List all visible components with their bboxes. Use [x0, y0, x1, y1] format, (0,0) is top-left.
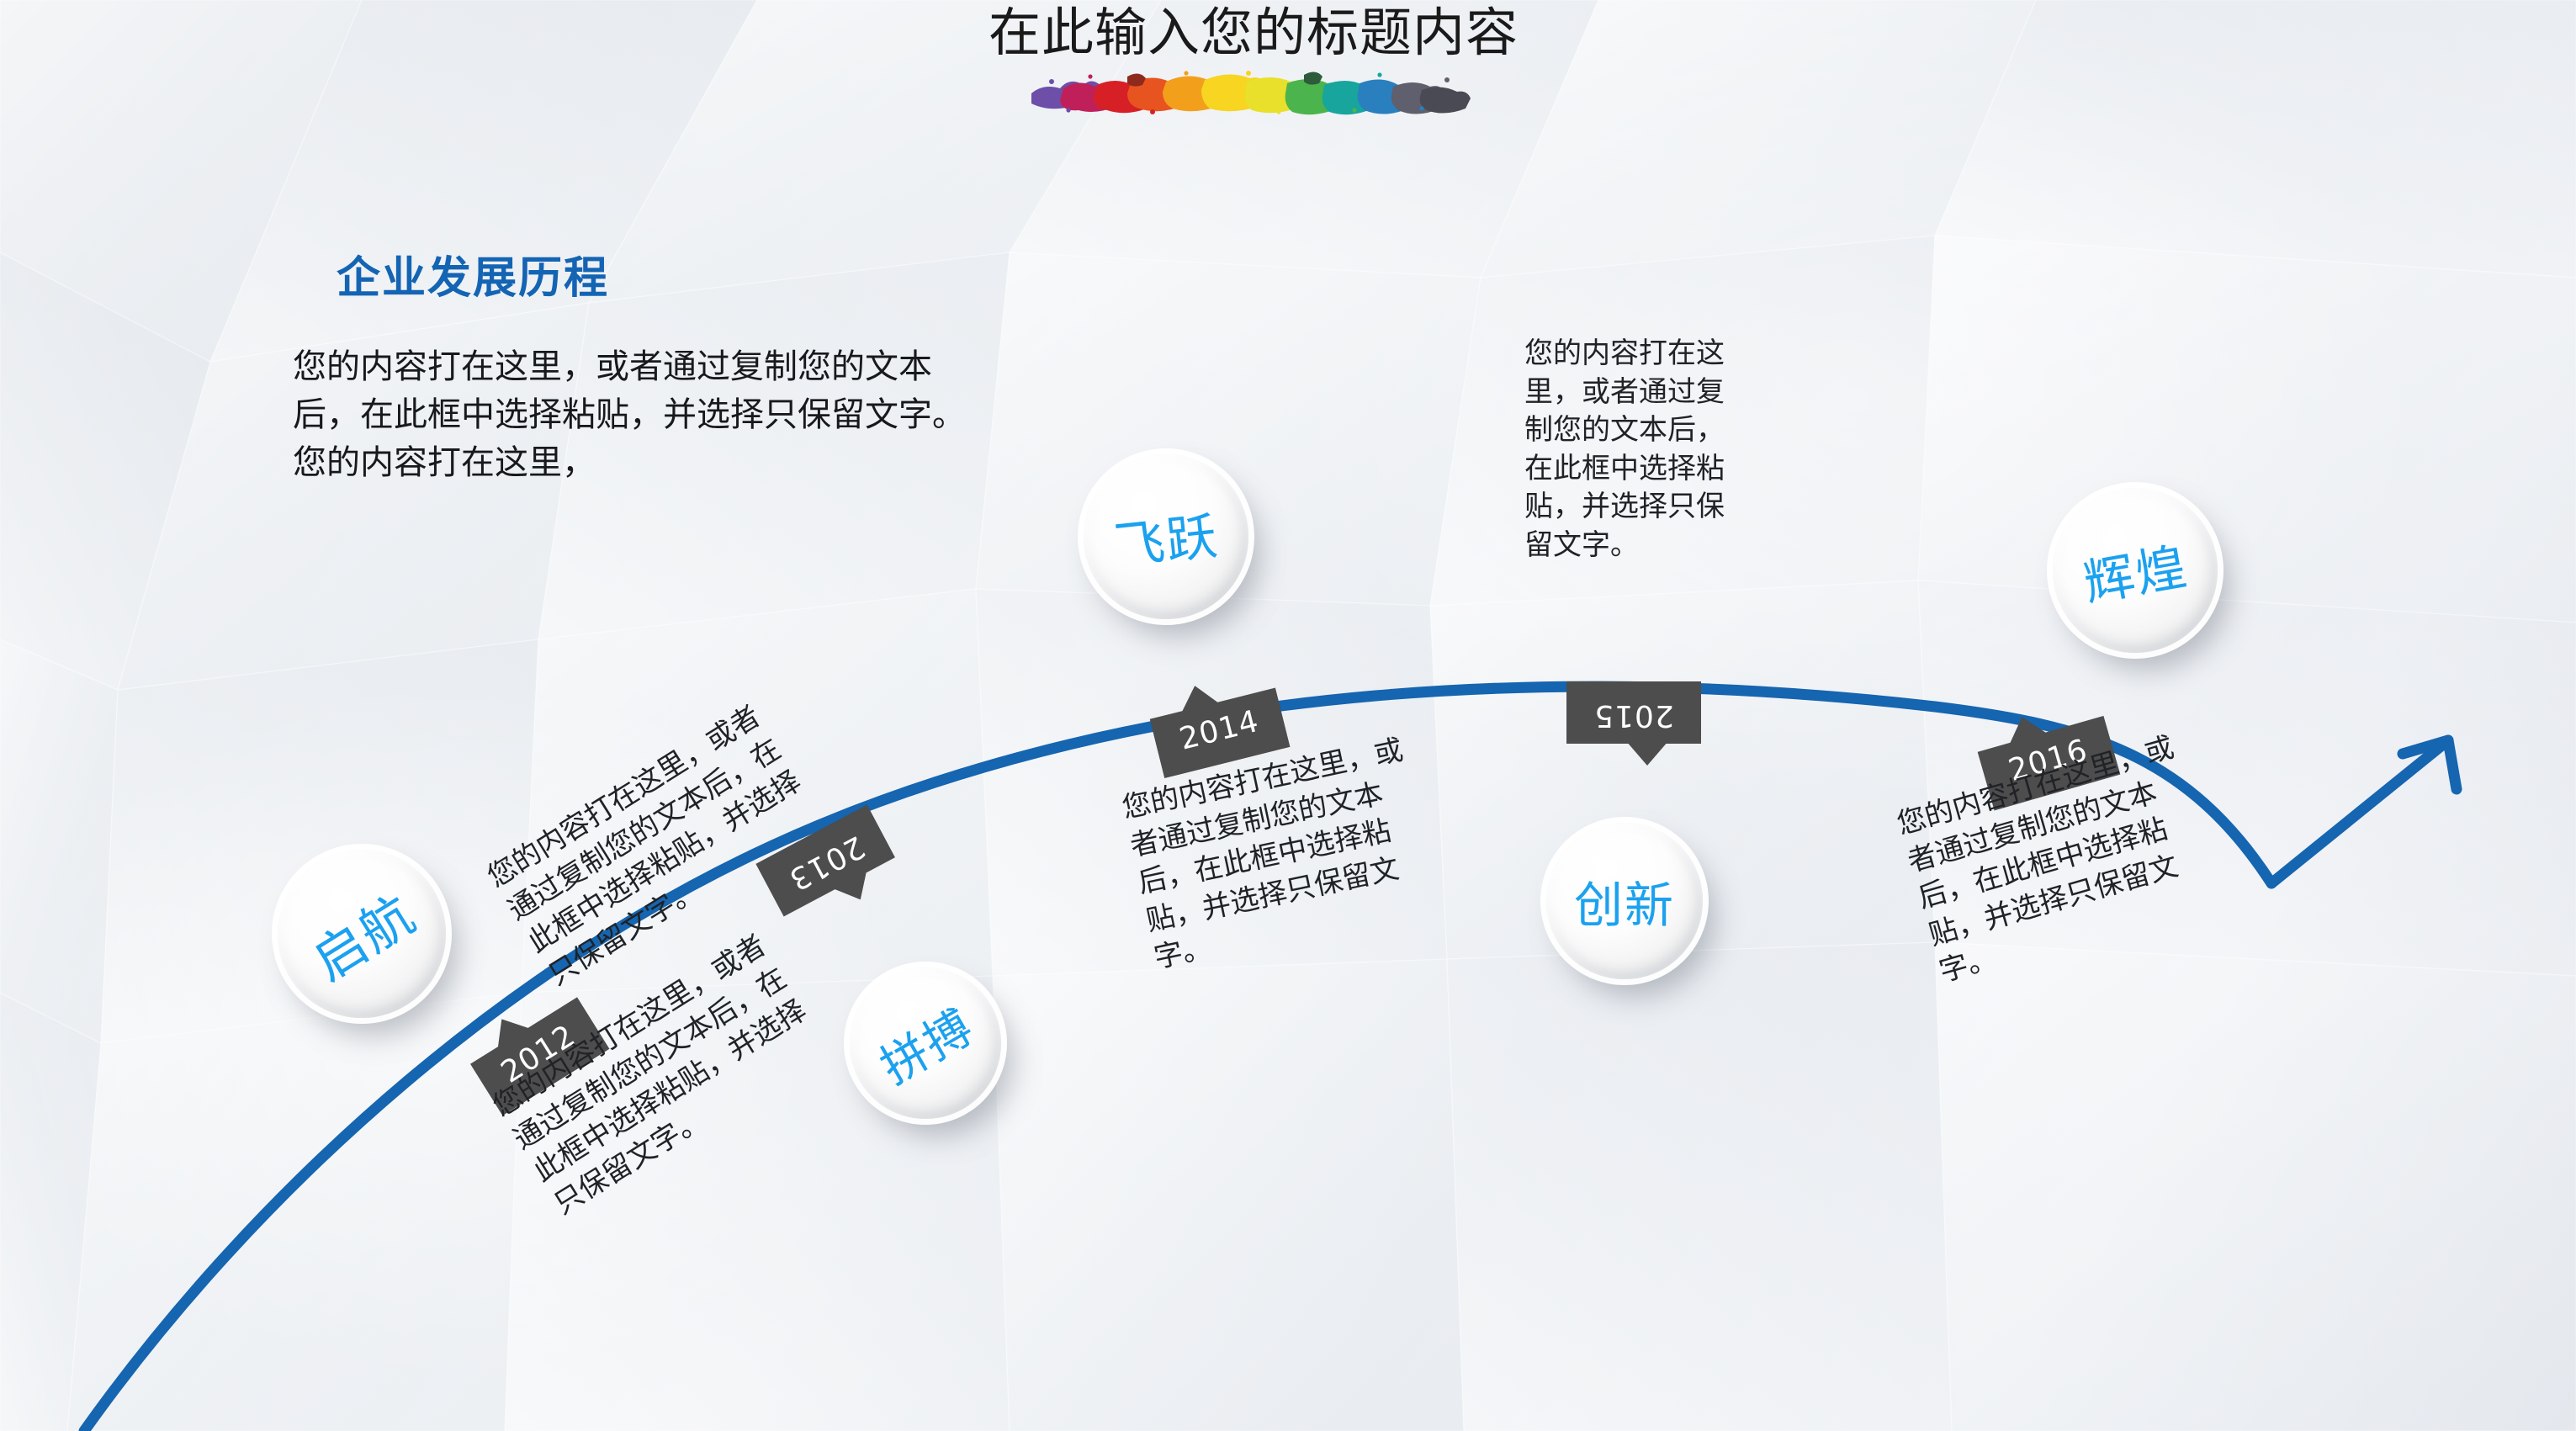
title-block: 在此输入您的标题内容 [909, 5, 1598, 120]
milestone-bubble-label: 创新 [1574, 866, 1675, 936]
milestone-bubble-label: 辉煌 [2077, 525, 2192, 615]
intro-paragraph: 您的内容打在这里，或者通过复制您的文本后，在此框中选择粘贴，并选择只保留文字。您… [293, 343, 983, 486]
year-tag-2015[interactable]: 2015 [1566, 681, 1701, 766]
section-heading: 企业发展历程 [337, 242, 609, 305]
year-tag-label: 2014 [1176, 703, 1263, 756]
growth-curve [0, 0, 2576, 1431]
milestone-bubble-2013[interactable]: 拼搏 [850, 967, 1001, 1119]
milestone-bubble-label: 飞跃 [1110, 495, 1222, 578]
milestone-bubble-label: 启航 [296, 873, 427, 994]
paint-splash-decoration [1026, 65, 1481, 117]
year-tag-label: 2015 [1593, 699, 1674, 734]
milestone-bubble-2016[interactable]: 辉煌 [2053, 488, 2218, 653]
milestone-bubble-label: 拼搏 [867, 989, 985, 1097]
slide-canvas: 在此输入您的标题内容 [0, 0, 2576, 1431]
milestone-bubble-2014[interactable]: 飞跃 [1084, 454, 1248, 619]
milestone-bubble-2012[interactable]: 启航 [278, 850, 446, 1018]
milestone-note-2016: 您的内容打在这里，或者通过复制您的文本后，在此框中选择粘贴，并选择只保留文字。 [1893, 724, 2237, 992]
page-title: 在此输入您的标题内容 [909, 5, 1598, 60]
milestone-note-2015: 您的内容打在这里，或者通过复制您的文本后，在此框中选择粘贴，并选择只保留文字。 [1524, 335, 1752, 564]
milestone-bubble-2015[interactable]: 创新 [1546, 823, 1703, 979]
low-poly-background [0, 0, 2576, 1431]
